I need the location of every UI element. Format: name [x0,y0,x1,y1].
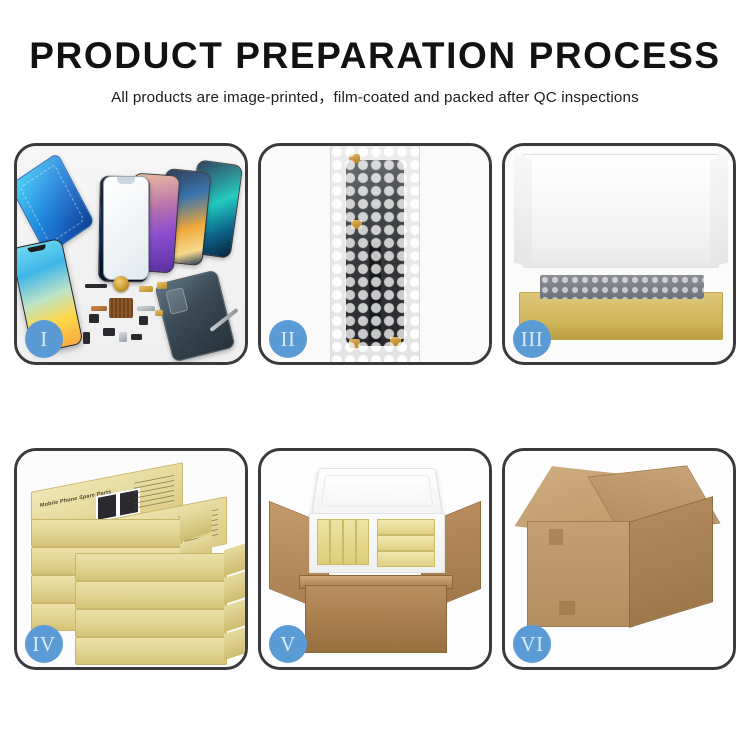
stacked-box [75,581,227,609]
page-subtitle: All products are image-printed，film-coat… [0,85,750,107]
foam-lid [311,468,443,515]
spare-parts-group [83,280,201,356]
yellow-boxes-group [317,519,437,565]
step-badge-1: I [25,320,63,358]
white-box-lid [523,154,719,268]
box-spec-lines [134,475,174,509]
step-badge-5: V [269,625,307,663]
step-panel-4: Mobile Phone Spare Parts Mobile Phone Sp… [14,448,248,670]
step-panel-1: I [14,143,248,365]
step-badge-2: II [269,320,307,358]
part-chip [89,314,99,323]
part-chip [91,306,107,311]
page-title: PRODUCT PREPARATION PROCESS [0,36,750,76]
stacked-box [75,609,227,637]
stacked-box [31,519,183,547]
carton-front-face [527,521,633,627]
tape-patch [549,529,563,545]
part-chip [139,286,153,292]
part-chip [155,310,163,316]
stacked-box [75,637,227,665]
part-chip [137,306,155,311]
part-chip [83,332,90,344]
step-panel-3: III [502,143,736,365]
tape-patch [559,601,575,615]
tempered-glass-sheet [103,176,149,280]
header: PRODUCT PREPARATION PROCESS All products… [0,36,750,107]
yellow-box-flat [377,535,435,551]
bubble-texture-overlay [331,146,419,362]
stacked-box [75,553,227,581]
part-chip [103,328,115,336]
yellow-box [343,519,356,565]
part-chip [157,282,167,289]
part-chip [139,316,148,325]
speaker-coil-part [113,276,129,292]
logic-board-part [109,298,133,318]
bubble-wrapped-contents [540,275,704,299]
part-chip [131,334,142,340]
step-badge-4: IV [25,625,63,663]
yellow-box-flat [377,519,435,535]
step-badge-6: VI [513,625,551,663]
yellow-box-flat [377,551,435,567]
part-chip [119,332,127,342]
step-panel-5: V [258,448,492,670]
yellow-box [317,519,330,565]
process-step-grid: I II [14,143,736,670]
step-panel-2: II [258,143,492,365]
carton-body [305,585,447,653]
step-panel-6: VI [502,448,736,670]
step-badge-3: III [513,320,551,358]
yellow-box [330,519,343,565]
infographic-page: PRODUCT PREPARATION PROCESS All products… [0,0,750,750]
yellow-box [356,519,369,565]
part-chip [85,284,107,288]
